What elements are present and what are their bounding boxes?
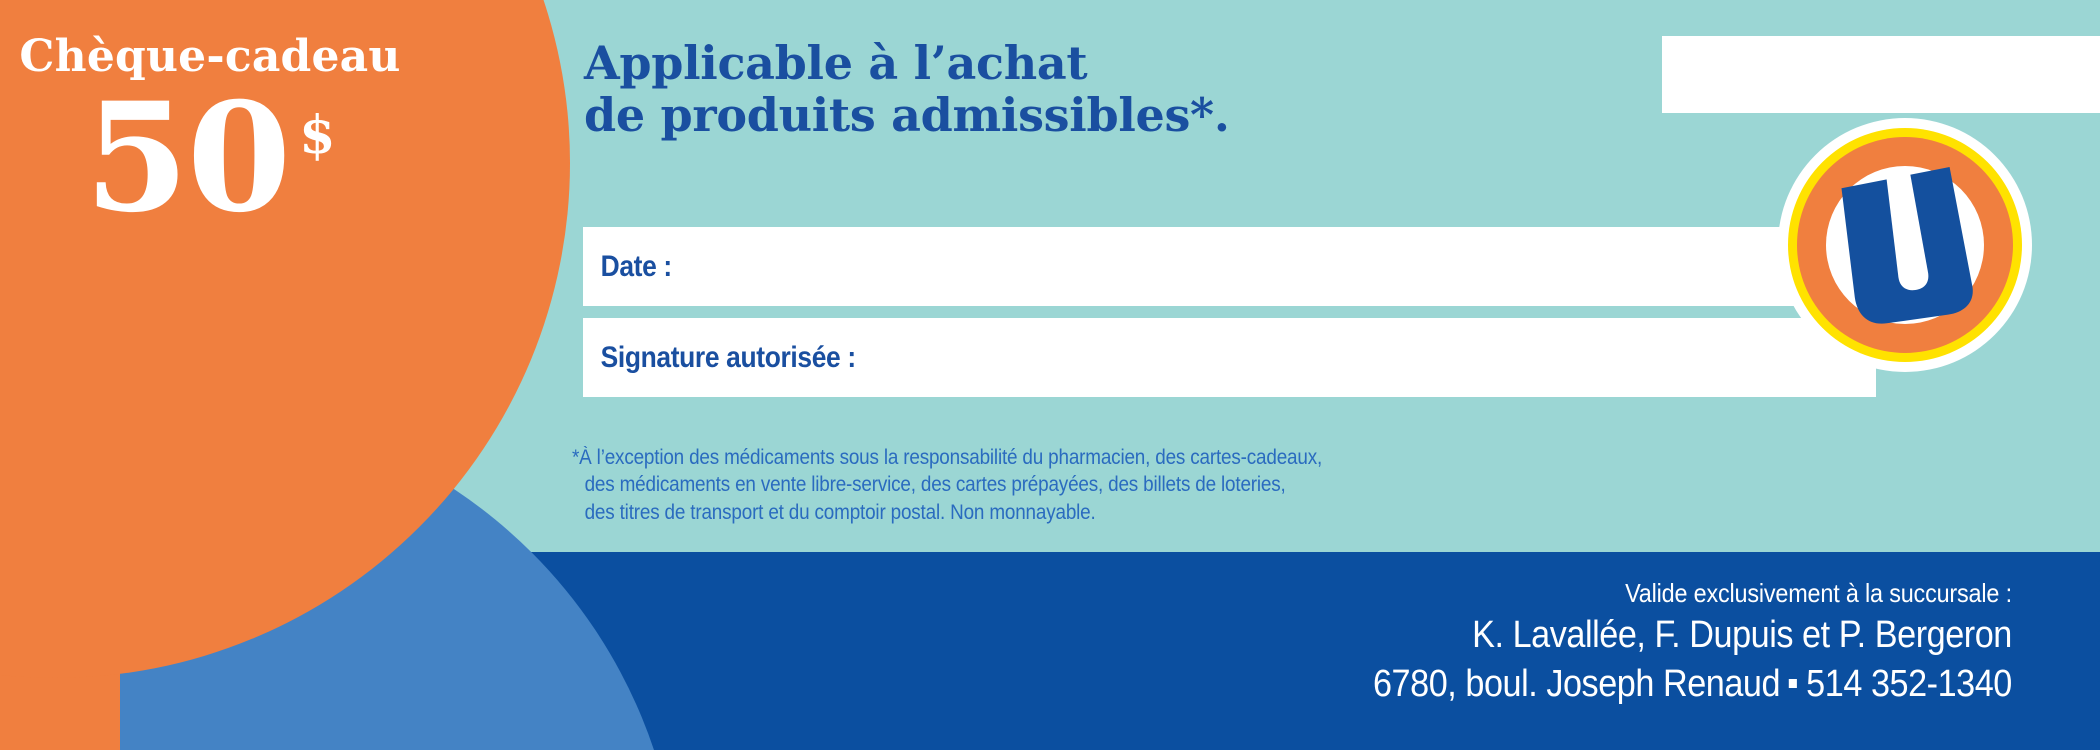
amount-value: 50 xyxy=(85,87,290,230)
footer-store-info: Valide exclusivement à la succursale : K… xyxy=(1302,576,2012,710)
fineprint-disclaimer: *À l’exception des médicaments sous la r… xyxy=(572,444,1322,526)
amount-panel: Chèque-cadeau 50 $ xyxy=(0,0,420,320)
separator-dot-icon xyxy=(1789,679,1797,688)
fineprint-text-1: À l’exception des médicaments sous la re… xyxy=(579,446,1322,469)
date-field-label: Date : xyxy=(583,250,672,284)
fineprint-line-3: des titres de transport et du comptoir p… xyxy=(572,499,1322,526)
amount-row: 50 $ xyxy=(0,87,420,230)
fineprint-line-1: *À l’exception des médicaments sous la r… xyxy=(572,444,1322,471)
headline-line-2: de produits admissibles*. xyxy=(584,90,1230,142)
currency-symbol: $ xyxy=(299,105,335,166)
footer-address-phone: 6780, boul. Joseph Renaud514 352-1340 xyxy=(1373,660,2012,709)
footer-phone: 514 352-1340 xyxy=(1806,663,2012,705)
signature-field[interactable]: Signature autorisée : xyxy=(583,318,1876,397)
footer-store-name: K. Lavallée, F. Dupuis et P. Bergeron xyxy=(1373,611,2012,660)
headline-line-1: Applicable à l’achat xyxy=(584,38,1230,90)
uniprix-logo-icon xyxy=(1778,118,2032,372)
headline: Applicable à l’achat de produits admissi… xyxy=(584,38,1230,141)
date-field[interactable]: Date : xyxy=(583,227,1876,306)
asterisk-marker: * xyxy=(572,446,579,469)
footer-address: 6780, boul. Joseph Renaud xyxy=(1373,663,1780,705)
recipient-box[interactable] xyxy=(1662,36,2100,113)
fineprint-line-2: des médicaments en vente libre-service, … xyxy=(572,471,1322,498)
footer-validity-label: Valide exclusivement à la succursale : xyxy=(1373,576,2012,611)
signature-field-label: Signature autorisée : xyxy=(583,341,856,375)
gift-certificate: Chèque-cadeau 50 $ Applicable à l’achat … xyxy=(0,0,2100,750)
